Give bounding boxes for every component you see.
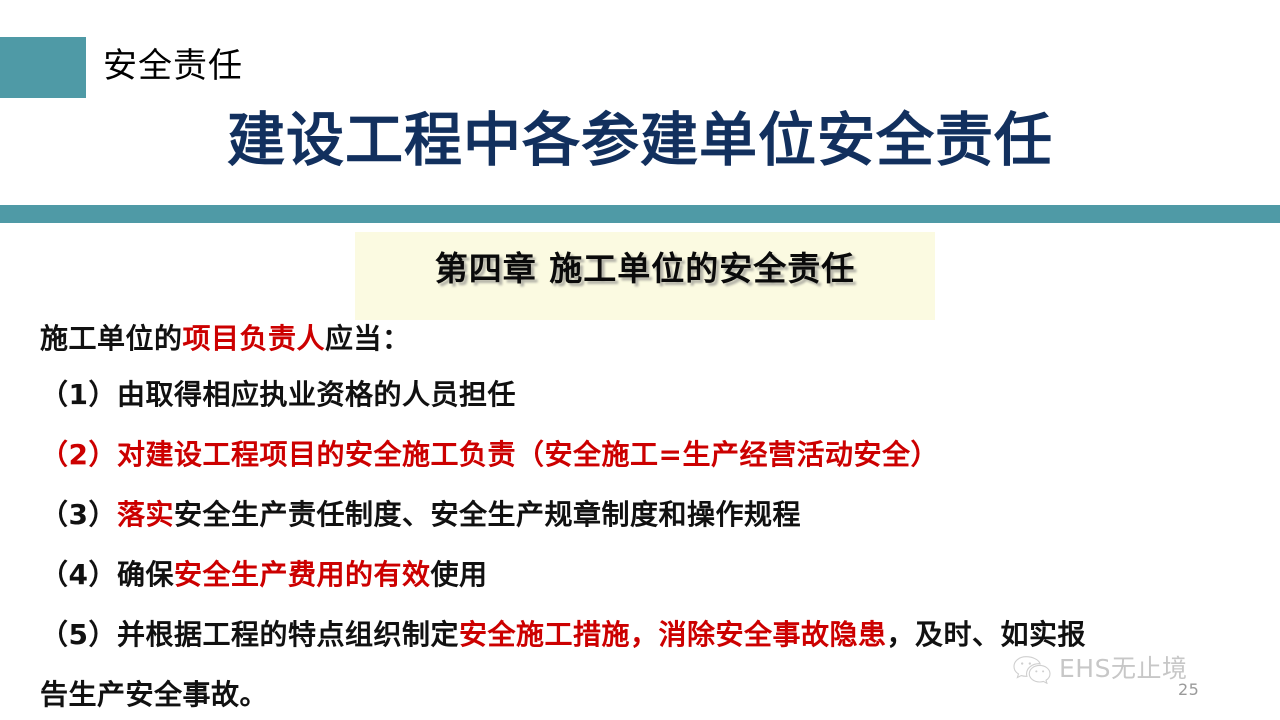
item5-text: ，及时、如实报	[887, 618, 1087, 651]
item3-text: 安全生产责任制度、安全生产规章制度和操作规程	[174, 498, 801, 531]
item5-highlight: 安全施工措施，消除安全事故隐患	[459, 618, 887, 651]
header-divider	[0, 205, 1280, 223]
page-number: 25	[1178, 680, 1199, 700]
item4-label: （4）确保	[40, 558, 174, 591]
accent-swatch	[0, 37, 86, 98]
page-title: 建设工程中各参建单位安全责任	[0, 104, 1280, 176]
item4-highlight: 安全生产费用的有效	[174, 558, 431, 591]
slide-kicker: 安全责任	[103, 40, 243, 92]
list-item: （5）并根据工程的特点组织制定安全施工措施，消除安全事故隐患，及时、如实报	[40, 618, 1250, 652]
body-lead-part1: 施工单位的	[40, 322, 183, 355]
list-item: （4）确保安全生产费用的有效使用	[40, 558, 1250, 592]
item3-highlight: 落实	[117, 498, 174, 531]
body-lead: 施工单位的项目负责人应当：	[40, 322, 1250, 356]
item1-label: （1）	[40, 378, 117, 411]
body-lead-highlight: 项目负责人	[183, 322, 326, 355]
item4-text: 使用	[431, 558, 488, 591]
body-lead-part3: 应当：	[325, 322, 411, 355]
item5-continuation: 告生产安全事故。	[40, 678, 268, 711]
item3-label: （3）	[40, 498, 117, 531]
item5-label: （5）并根据工程的特点组织制定	[40, 618, 459, 651]
slide-header: 安全责任 建设工程中各参建单位安全责任	[0, 0, 1280, 205]
item2-text: （2）对建设工程项目的安全施工负责（安全施工=生产经营活动安全）	[40, 438, 939, 471]
list-item: （2）对建设工程项目的安全施工负责（安全施工=生产经营活动安全）	[40, 438, 1250, 472]
list-item: （3）落实安全生产责任制度、安全生产规章制度和操作规程	[40, 498, 1250, 532]
item1-text: 由取得相应执业资格的人员担任	[117, 378, 516, 411]
slide: 安全责任 建设工程中各参建单位安全责任 第四章 施工单位的安全责任 施工单位的项…	[0, 0, 1280, 720]
chapter-heading: 第四章 施工单位的安全责任	[355, 245, 935, 293]
watermark-label: EHS无止境	[1059, 654, 1187, 684]
list-item: （1）由取得相应执业资格的人员担任	[40, 378, 1250, 412]
wechat-icon	[1012, 654, 1052, 684]
